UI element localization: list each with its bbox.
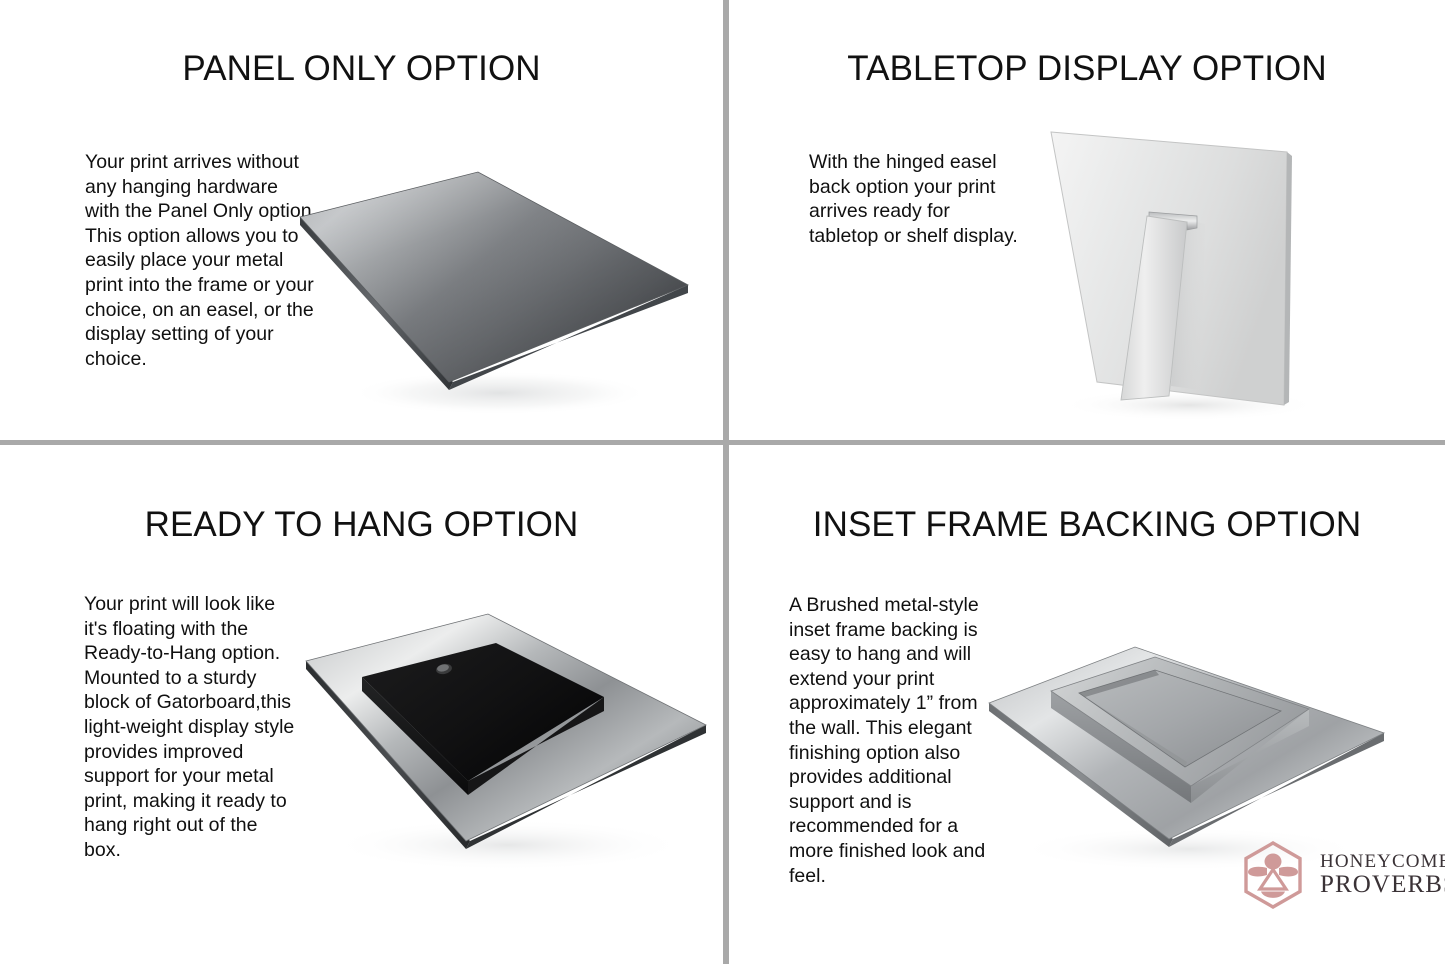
brand-logo-text: HONEYCOMB PROVERBS: [1320, 852, 1445, 899]
gatorboard-float-mount-image: [298, 595, 708, 885]
easel-back-panel-image: [1009, 100, 1339, 430]
panel-ready-to-hang: READY TO HANG OPTION Your print will loo…: [0, 445, 723, 964]
brand-logo-line2: PROVERBS: [1320, 872, 1445, 899]
panel-tabletop-display: TABLETOP DISPLAY OPTION With the hinged …: [729, 0, 1445, 440]
divider-horizontal: [0, 440, 1445, 445]
honeycomb-bee-hexagon-icon: [1236, 838, 1310, 912]
divider-vertical: [723, 0, 729, 964]
infographic-canvas: PANEL ONLY OPTION Your print arrives wit…: [0, 0, 1445, 964]
panel-body-inset-frame-backing: A Brushed metal-style inset frame backin…: [789, 593, 989, 888]
panel-title-panel-only: PANEL ONLY OPTION: [0, 49, 723, 89]
panel-panel-only: PANEL ONLY OPTION Your print arrives wit…: [0, 0, 723, 440]
panel-title-ready-to-hang: READY TO HANG OPTION: [0, 505, 723, 545]
flat-metal-panel-image: [290, 145, 690, 430]
panel-title-tabletop-display: TABLETOP DISPLAY OPTION: [729, 49, 1445, 89]
panel-body-ready-to-hang: Your print will look like it's floating …: [84, 592, 299, 863]
panel-body-tabletop-display: With the hinged easel back option your p…: [809, 150, 1021, 248]
brand-logo: HONEYCOMB PROVERBS: [1236, 836, 1436, 914]
brand-logo-line1: HONEYCOMB: [1320, 852, 1445, 872]
panel-body-panel-only: Your print arrives without any hanging h…: [85, 150, 317, 371]
panel-title-inset-frame-backing: INSET FRAME BACKING OPTION: [729, 505, 1445, 545]
